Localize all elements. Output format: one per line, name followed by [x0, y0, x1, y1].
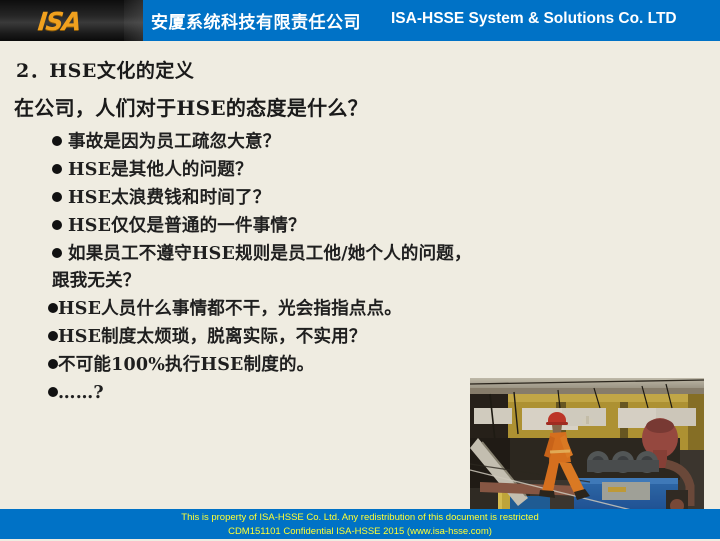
bullet-dot-icon: [48, 387, 58, 397]
bullet-dot-icon: [48, 331, 58, 341]
list-item-label: HSE太浪费钱和时间了？: [68, 188, 270, 208]
bullet-dot-icon: [48, 303, 58, 313]
logo-panel: ISA: [0, 0, 143, 41]
isa-logo-icon: ISA: [36, 7, 81, 36]
footer-confidential-line: CDM151101 Confidential ISA-HSSE 2015 (ww…: [0, 525, 720, 539]
list-item-label: 事故是因为员工疏忽大意？: [68, 132, 280, 152]
bullet-list: 事故是因为员工疏忽大意？ HSE是其他人的问题？ HSE太浪费钱和时间了？ HS…: [52, 129, 472, 408]
list-item-label: HSE制度太烦琐，脱离实际，不实用？: [58, 327, 367, 347]
bullet-dot-icon: [52, 248, 62, 258]
list-item: HSE太浪费钱和时间了？: [52, 185, 472, 212]
page-subtitle: 在公司，人们对于HSE的态度是什么？: [14, 92, 368, 121]
slide-body: 2．HSE文化的定义 在公司，人们对于HSE的态度是什么？ 事故是因为员工疏忽大…: [0, 41, 720, 509]
slide: ISA 安厦系统科技有限责任公司 ISA-HSSE System & Solut…: [0, 0, 720, 541]
slide-header: ISA 安厦系统科技有限责任公司 ISA-HSSE System & Solut…: [0, 0, 720, 41]
bullet-dot-icon: [52, 164, 62, 174]
company-name-cn: 安厦系统科技有限责任公司: [151, 8, 361, 33]
list-item: HSE是其他人的问题？: [52, 157, 472, 184]
page-title: 2．HSE文化的定义: [16, 56, 194, 83]
bullet-dot-icon: [52, 136, 62, 146]
slide-footer: This is property of ISA-HSSE Co. Ltd. An…: [0, 509, 720, 539]
bullet-dot-icon: [52, 220, 62, 230]
list-item-label: HSE是其他人的问题？: [68, 160, 253, 180]
list-item: 事故是因为员工疏忽大意？: [52, 129, 472, 156]
list-item-label: 不可能100%执行HSE制度的。: [58, 355, 314, 375]
list-item: HSE制度太烦琐，脱离实际，不实用？: [48, 324, 472, 351]
list-item: 不可能100%执行HSE制度的。: [48, 352, 472, 379]
list-item-label: HSE人员什么事情都不干，光会指指点点。: [58, 299, 402, 319]
footer-copyright-line: This is property of ISA-HSSE Co. Ltd. An…: [0, 509, 720, 525]
list-item: 如果员工不遵守HSE规则是员工他/她个人的问题，跟我无关？: [52, 241, 472, 295]
company-name-en: ISA-HSSE System & Solutions Co. LTD: [391, 10, 677, 28]
list-item-label: ……?: [58, 383, 104, 403]
list-item-label: HSE仅仅是普通的一件事情？: [68, 216, 306, 236]
header-title-bar: 安厦系统科技有限责任公司 ISA-HSSE System & Solutions…: [143, 0, 720, 41]
bullet-dot-icon: [52, 192, 62, 202]
list-item-label: 如果员工不遵守HSE规则是员工他/她个人的问题，跟我无关？: [52, 244, 472, 291]
bullet-dot-icon: [48, 359, 58, 369]
list-item: HSE人员什么事情都不干，光会指指点点。: [48, 296, 472, 323]
list-item: HSE仅仅是普通的一件事情？: [52, 213, 472, 240]
list-item: ……?: [48, 380, 472, 407]
